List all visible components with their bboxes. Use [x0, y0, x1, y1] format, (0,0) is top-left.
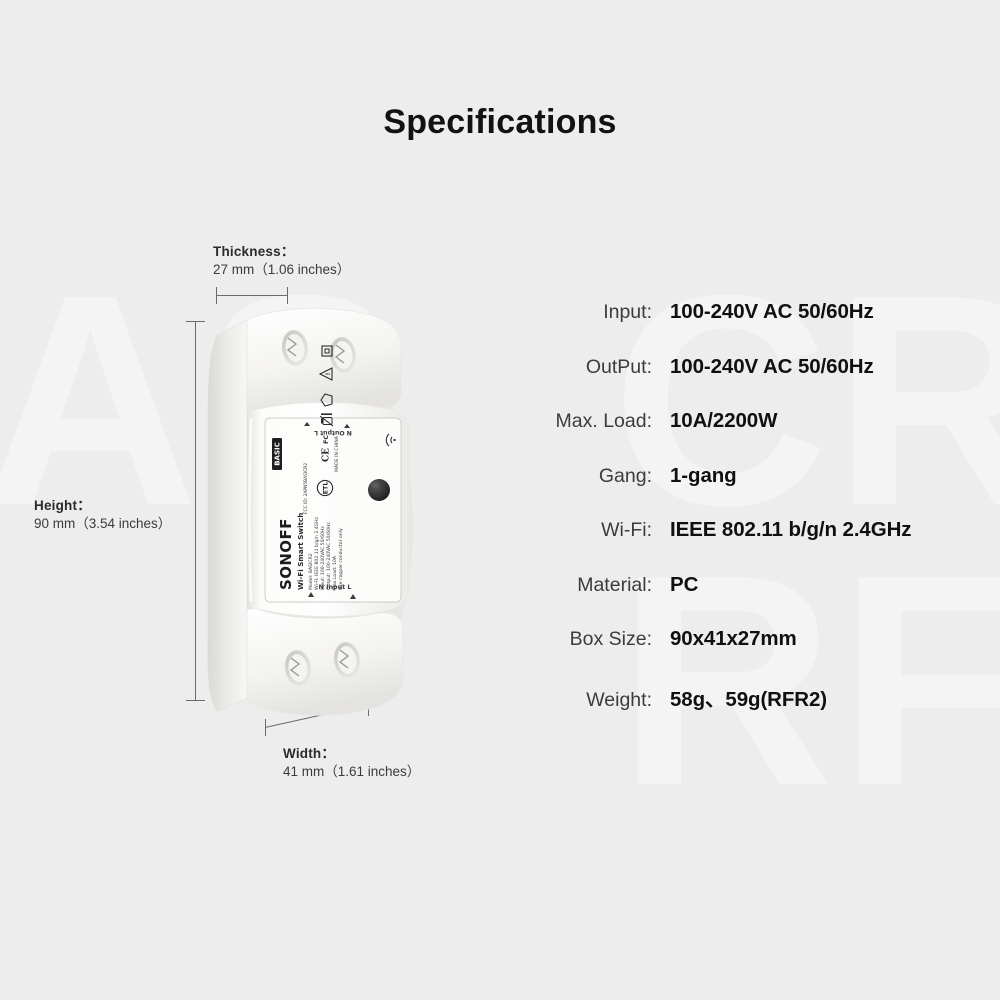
thickness-dimension-title: Thickness： [213, 243, 350, 261]
product-photo: N Output L SONOFF Wi-Fi Smart Switch Mod… [195, 300, 445, 730]
svg-text:Wi-Fi Smart Switch: Wi-Fi Smart Switch [296, 513, 305, 590]
svg-text:MADE IN CHINA: MADE IN CHINA [334, 435, 340, 472]
svg-text:N Input L: N Input L [319, 583, 352, 591]
spec-value-output: 100-240V AC 50/60Hz [670, 355, 874, 379]
svg-text:Use copper conductor only: Use copper conductor only [338, 528, 344, 590]
svg-text:Model: BASICR2: Model: BASICR2 [308, 553, 314, 590]
svg-text:ETL: ETL [322, 482, 330, 495]
spec-row-wifi: Wi-Fi: IEEE 802.11 b/g/n 2.4GHz [520, 518, 990, 573]
spec-row-weight: Weight: 58g、59g(RFR2) [520, 682, 990, 737]
width-dimension-title: Width： [283, 745, 420, 763]
spec-value-material: PC [670, 573, 698, 597]
svg-text:Output: 100-240VAC 50/60Hz: Output: 100-240VAC 50/60Hz [326, 522, 332, 590]
spec-value-input: 100-240V AC 50/60Hz [670, 300, 874, 324]
spec-label-material: Material: [520, 574, 652, 597]
spec-value-weight: 58g、59g(RFR2) [670, 682, 827, 712]
spec-label-weight: Weight: [520, 689, 652, 712]
sonoff-basic-switch-illustration: N Output L SONOFF Wi-Fi Smart Switch Mod… [195, 300, 445, 730]
pairing-button[interactable] [368, 479, 390, 501]
bottom-mounting-tab [247, 608, 403, 715]
spec-row-max-load: Max. Load: 10A/2200W [520, 409, 990, 464]
svg-text:SONOFF: SONOFF [277, 518, 295, 590]
basic-badge: BASIC [272, 438, 282, 470]
thickness-dimension-value: 27 mm（1.06 inches） [213, 261, 350, 279]
svg-text:FC: FC [322, 435, 330, 444]
spec-label-output: OutPut: [520, 356, 652, 379]
height-dimension-title: Height： [34, 497, 171, 515]
spec-row-gang: Gang: 1-gang [520, 464, 990, 519]
page-title: Specifications [0, 103, 1000, 142]
svg-text:!: ! [325, 373, 332, 376]
width-dimension-label: Width： 41 mm（1.61 inches） [283, 745, 420, 781]
spec-value-wifi: IEEE 802.11 b/g/n 2.4GHz [670, 518, 911, 542]
spec-label-box-size: Box Size: [520, 628, 652, 651]
spec-value-box-size: 90x41x27mm [670, 627, 797, 651]
width-dimension-value: 41 mm（1.61 inches） [283, 763, 420, 781]
spec-label-gang: Gang: [520, 465, 652, 488]
device-side-face [208, 320, 247, 712]
spec-row-output: OutPut: 100-240V AC 50/60Hz [520, 355, 990, 410]
top-mounting-tab [247, 308, 401, 414]
svg-text:CE: CE [322, 448, 332, 462]
height-dimension-value: 90 mm（3.54 inches） [34, 515, 171, 533]
spec-row-box-size: Box Size: 90x41x27mm [520, 627, 990, 682]
spec-value-max-load: 10A/2200W [670, 409, 777, 433]
spec-row-input: Input: 100-240V AC 50/60Hz [520, 300, 990, 355]
svg-text:FCC ID: 2APN5BASICR2: FCC ID: 2APN5BASICR2 [303, 463, 309, 514]
svg-text:Wi-Fi: IEEE 802.11 b/g/n 2.4GH: Wi-Fi: IEEE 802.11 b/g/n 2.4GHz [314, 516, 320, 590]
specifications-list: Input: 100-240V AC 50/60Hz OutPut: 100-2… [520, 300, 990, 736]
spec-label-max-load: Max. Load: [520, 410, 652, 433]
thickness-dimension-label: Thickness： 27 mm（1.06 inches） [213, 243, 350, 279]
spec-value-gang: 1-gang [670, 464, 737, 488]
svg-text:Input: 100-240VAC 50/60Hz: Input: 100-240VAC 50/60Hz [320, 526, 326, 590]
thickness-dimension-line [216, 295, 288, 296]
spec-row-material: Material: PC [520, 573, 990, 628]
svg-text:N Output L: N Output L [314, 429, 352, 436]
height-dimension-label: Height： 90 mm（3.54 inches） [34, 497, 171, 533]
spec-label-wifi: Wi-Fi: [520, 519, 652, 542]
terminal-legend-output: N Output L [314, 429, 352, 436]
spec-label-input: Input: [520, 301, 652, 324]
svg-text:BASIC: BASIC [273, 442, 281, 466]
